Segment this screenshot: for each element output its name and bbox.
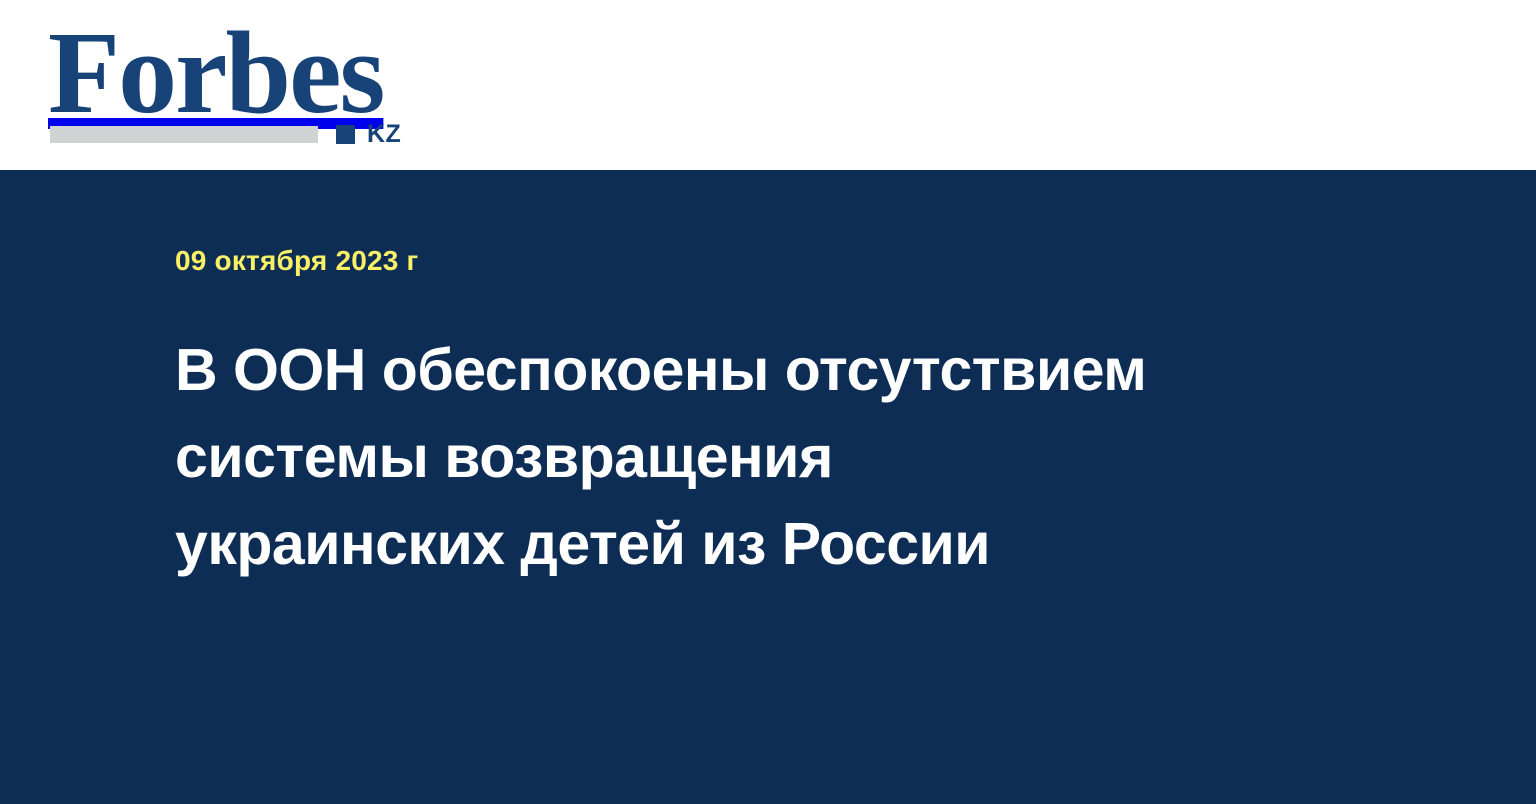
forbes-wordmark: Forbes: [48, 18, 420, 130]
headline-line: украинских детей из России: [175, 501, 1375, 588]
logo-kz-label: KZ: [367, 122, 401, 147]
article-date: 09 октября 2023 г: [175, 247, 1536, 275]
logo-underline-row: KZ: [50, 123, 420, 145]
article-headline: В ООН обеспокоены отсутствием системы во…: [175, 327, 1375, 588]
logo-rule: [50, 126, 318, 143]
headline-line: В ООН обеспокоены отсутствием: [175, 327, 1375, 414]
headline-line: системы возвращения: [175, 414, 1375, 501]
site-header: Forbes KZ: [0, 0, 1536, 170]
article-card: Forbes KZ 09 октября 2023 г В ООН обеспо…: [0, 0, 1536, 804]
forbes-kz-logo[interactable]: Forbes KZ: [48, 18, 420, 146]
hero-section: 09 октября 2023 г В ООН обеспокоены отсу…: [0, 170, 1536, 804]
logo-square-icon: [336, 125, 355, 144]
